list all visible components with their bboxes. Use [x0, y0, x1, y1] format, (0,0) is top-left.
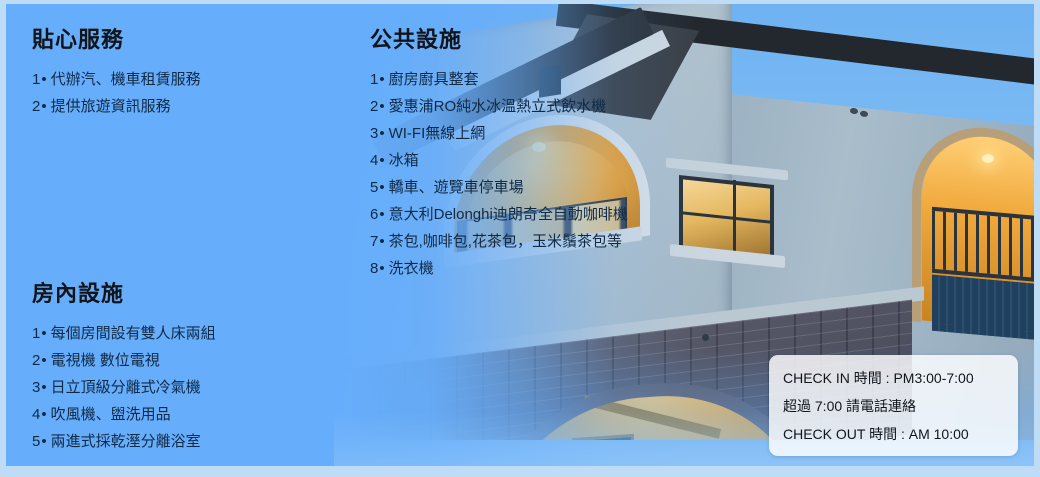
- list-item-number: 2: [32, 98, 40, 115]
- list-item-label: 提供旅遊資訊服務: [51, 98, 171, 115]
- list-item-bullet: •: [41, 352, 46, 369]
- section-room: 房內設施 1•每個房間設有雙人床兩組 2•電視機 數位電視 3•日立頂級分離式冷…: [32, 282, 216, 455]
- list-item: 8•洗衣機: [370, 255, 628, 282]
- list-item-label: 日立頂級分離式冷氣機: [51, 379, 201, 396]
- list-item-label: 廚房廚具整套: [389, 71, 479, 88]
- list-item-bullet: •: [379, 125, 384, 142]
- list-item: 4•冰箱: [370, 147, 628, 174]
- list-item-bullet: •: [41, 98, 46, 115]
- section-service-title: 貼心服務: [32, 28, 201, 52]
- photo-wall-fixture: [702, 334, 709, 341]
- list-item-number: 1: [32, 325, 40, 342]
- checkin-info-card: CHECK IN 時間 : PM3:00-7:00 超過 7:00 請電話連絡 …: [769, 355, 1018, 456]
- list-item-number: 6: [370, 206, 378, 223]
- photo-window-mullion-v: [733, 180, 736, 256]
- list-item-label: 吹風機、盥洗用品: [51, 406, 171, 423]
- list-item-number: 3: [32, 379, 40, 396]
- list-item-label: 冰箱: [389, 152, 419, 169]
- content-panel: 貼心服務 1•代辦汽、機車租賃服務 2•提供旅遊資訊服務 公共設施 1•廚房廚具…: [6, 4, 1034, 466]
- list-item-bullet: •: [379, 152, 384, 169]
- list-item-bullet: •: [379, 179, 384, 196]
- checkout-time-line: CHECK OUT 時間 : AM 10:00: [783, 423, 1004, 445]
- list-item-label: 愛惠浦RO純水冰溫熱立式飲水機: [389, 98, 607, 115]
- list-item-label: 茶包,咖啡包,花茶包，玉米鬚茶包等: [389, 233, 622, 250]
- list-item: 2•愛惠浦RO純水冰溫熱立式飲水機: [370, 93, 628, 120]
- list-item-bullet: •: [41, 325, 46, 342]
- section-service-list: 1•代辦汽、機車租賃服務 2•提供旅遊資訊服務: [32, 66, 201, 120]
- section-public-title: 公共設施: [370, 28, 628, 52]
- list-item-number: 5: [370, 179, 378, 196]
- list-item-label: 兩進式採乾溼分離浴室: [51, 433, 201, 450]
- list-item: 1•廚房廚具整套: [370, 66, 628, 93]
- list-item: 7•茶包,咖啡包,花茶包，玉米鬚茶包等: [370, 228, 628, 255]
- photo-wall-spotlights: [850, 108, 858, 115]
- section-room-list: 1•每個房間設有雙人床兩組 2•電視機 數位電視 3•日立頂級分離式冷氣機 4•…: [32, 320, 216, 455]
- list-item-bullet: •: [379, 98, 384, 115]
- list-item-label: 洗衣機: [389, 260, 434, 277]
- list-item-bullet: •: [379, 260, 384, 277]
- list-item-number: 7: [370, 233, 378, 250]
- list-item-label: 意大利Delonghi迪朗奇全自動咖啡機: [389, 206, 628, 223]
- list-item-number: 1: [32, 71, 40, 88]
- list-item: 1•代辦汽、機車租賃服務: [32, 66, 201, 93]
- section-public: 公共設施 1•廚房廚具整套 2•愛惠浦RO純水冰溫熱立式飲水機 3•WI-FI無…: [370, 28, 628, 282]
- list-item: 5•轎車、遊覽車停車場: [370, 174, 628, 201]
- list-item-bullet: •: [41, 71, 46, 88]
- section-public-list: 1•廚房廚具整套 2•愛惠浦RO純水冰溫熱立式飲水機 3•WI-FI無線上網 4…: [370, 66, 628, 282]
- list-item-number: 2: [370, 98, 378, 115]
- list-item-number: 3: [370, 125, 378, 142]
- photo-right-arch-frame: [912, 121, 1034, 334]
- list-item-number: 1: [370, 71, 378, 88]
- list-item: 5•兩進式採乾溼分離浴室: [32, 428, 216, 455]
- list-item-bullet: •: [41, 433, 46, 450]
- list-item: 6•意大利Delonghi迪朗奇全自動咖啡機: [370, 201, 628, 228]
- list-item-number: 2: [32, 352, 40, 369]
- list-item: 3•日立頂級分離式冷氣機: [32, 374, 216, 401]
- list-item-number: 5: [32, 433, 40, 450]
- list-item-number: 8: [370, 260, 378, 277]
- checkin-time-line: CHECK IN 時間 : PM3:00-7:00: [783, 367, 1004, 389]
- list-item-bullet: •: [41, 379, 46, 396]
- list-item: 1•每個房間設有雙人床兩組: [32, 320, 216, 347]
- list-item: 2•提供旅遊資訊服務: [32, 93, 201, 120]
- list-item: 4•吹風機、盥洗用品: [32, 401, 216, 428]
- list-item-label: 轎車、遊覽車停車場: [389, 179, 524, 196]
- list-item-number: 4: [32, 406, 40, 423]
- late-arrival-line: 超過 7:00 請電話連絡: [783, 395, 1004, 417]
- list-item-label: WI-FI無線上網: [389, 125, 486, 142]
- section-service: 貼心服務 1•代辦汽、機車租賃服務 2•提供旅遊資訊服務: [32, 28, 201, 120]
- page-root: 貼心服務 1•代辦汽、機車租賃服務 2•提供旅遊資訊服務 公共設施 1•廚房廚具…: [0, 0, 1040, 477]
- list-item-bullet: •: [379, 233, 384, 250]
- section-room-title: 房內設施: [32, 282, 216, 306]
- list-item-label: 每個房間設有雙人床兩組: [51, 325, 216, 342]
- list-item: 2•電視機 數位電視: [32, 347, 216, 374]
- list-item-label: 代辦汽、機車租賃服務: [51, 71, 201, 88]
- list-item-bullet: •: [379, 71, 384, 88]
- list-item-bullet: •: [41, 406, 46, 423]
- list-item-label: 電視機 數位電視: [51, 352, 160, 369]
- list-item: 3•WI-FI無線上網: [370, 120, 628, 147]
- list-item-number: 4: [370, 152, 378, 169]
- list-item-bullet: •: [379, 206, 384, 223]
